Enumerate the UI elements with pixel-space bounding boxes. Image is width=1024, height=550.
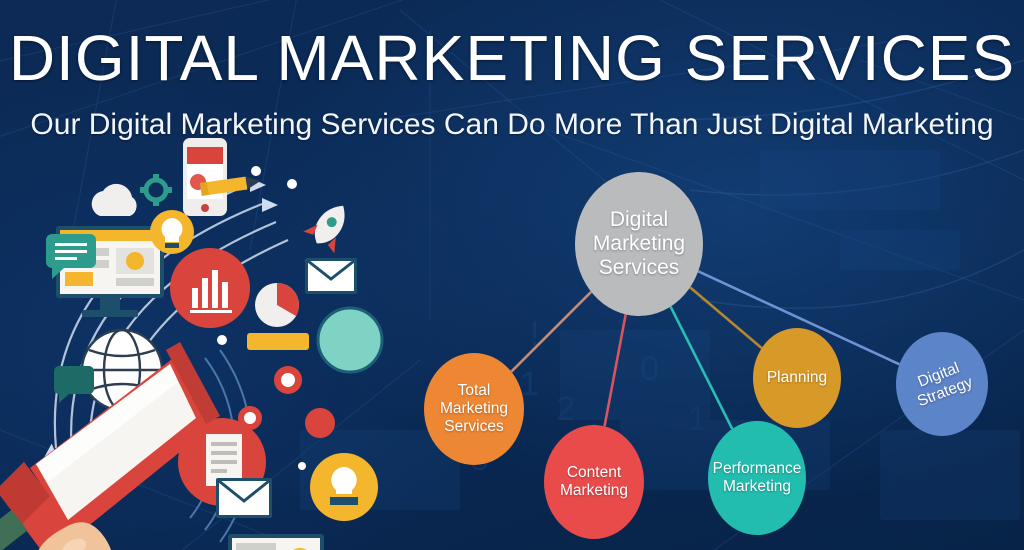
- link-hub-to-performance-marketing: [671, 307, 733, 429]
- node-performance-marketing[interactable]: [708, 421, 806, 535]
- page-title: DIGITAL MARKETING SERVICES: [0, 26, 1024, 90]
- link-hub-to-content-marketing: [605, 314, 626, 426]
- node-digital-strategy[interactable]: [896, 332, 988, 436]
- link-hub-to-total-marketing-services: [511, 292, 591, 372]
- node-planning[interactable]: [753, 328, 841, 428]
- header: DIGITAL MARKETING SERVICES Our Digital M…: [0, 0, 1024, 140]
- node-hub[interactable]: [575, 172, 703, 316]
- poster-canvas: 12 30 1!: [0, 0, 1024, 550]
- node-content-marketing[interactable]: [544, 425, 644, 539]
- page-subtitle: Our Digital Marketing Services Can Do Mo…: [0, 110, 1024, 140]
- node-total-marketing-services[interactable]: [424, 353, 524, 465]
